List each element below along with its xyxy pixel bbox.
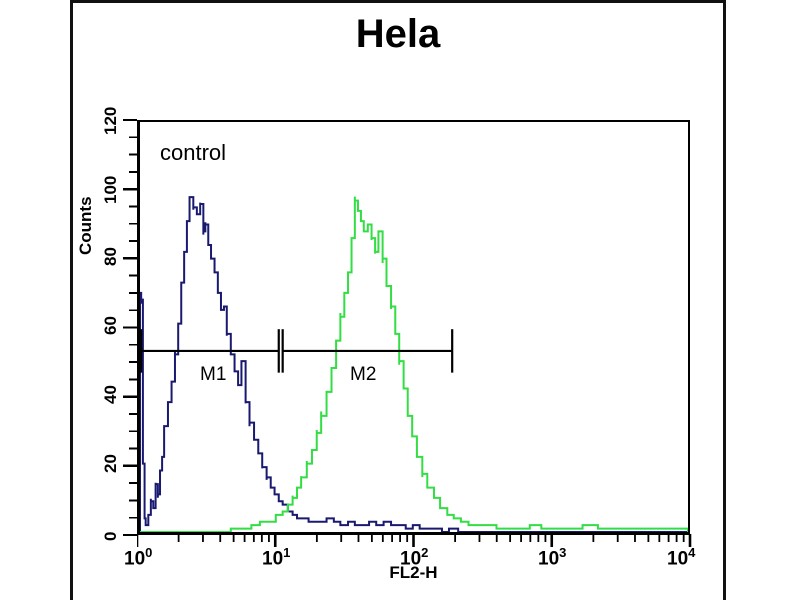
marker-label-m2: M2 — [350, 364, 376, 386]
marker-label-m1: M1 — [200, 364, 226, 386]
figure-title: Hela — [70, 8, 726, 60]
plot-inner — [140, 122, 688, 532]
y-axis-label: Counts — [76, 196, 96, 255]
marker-gates — [140, 122, 688, 532]
figure-root: Hela Counts 0 20 40 60 80 100 120 — [0, 0, 800, 600]
control-annotation: control — [160, 140, 226, 166]
x-axis-label: FL2-H — [137, 563, 690, 583]
plot-area — [137, 120, 690, 535]
